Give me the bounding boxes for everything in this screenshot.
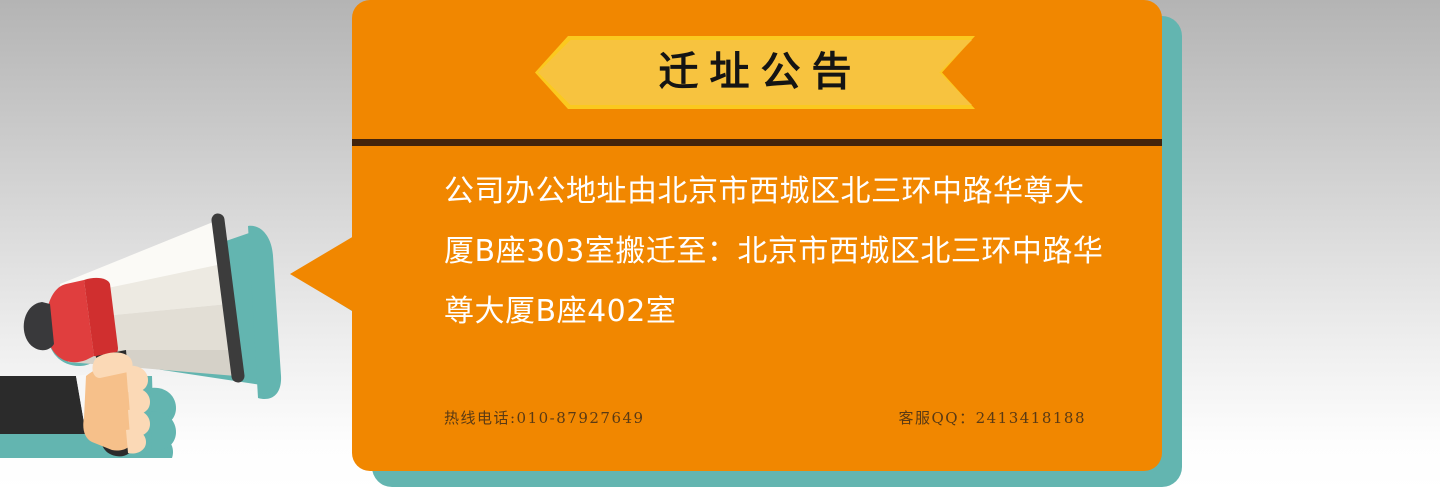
contact-phone: 热线电话:010-87927649 <box>444 407 645 428</box>
megaphone-red-band <box>46 278 118 362</box>
page-title: 迁址公告 <box>535 36 975 109</box>
contact-qq: 客服QQ：2413418188 <box>898 407 1086 428</box>
announcement-poster: 迁址公告 公司办公地址由北京市西城区北三环中路华尊大厦B座303室搬迁至：北京市… <box>0 0 1440 492</box>
announcement-body: 公司办公地址由北京市西城区北三环中路华尊大厦B座303室搬迁至：北京市西城区北三… <box>444 162 1104 342</box>
contact-row: 热线电话:010-87927649 客服QQ：2413418188 <box>444 407 1104 428</box>
title-banner: 迁址公告 <box>535 36 975 109</box>
header-divider <box>352 139 1162 146</box>
megaphone-illustration <box>0 180 370 492</box>
megaphone-knob <box>24 302 54 350</box>
